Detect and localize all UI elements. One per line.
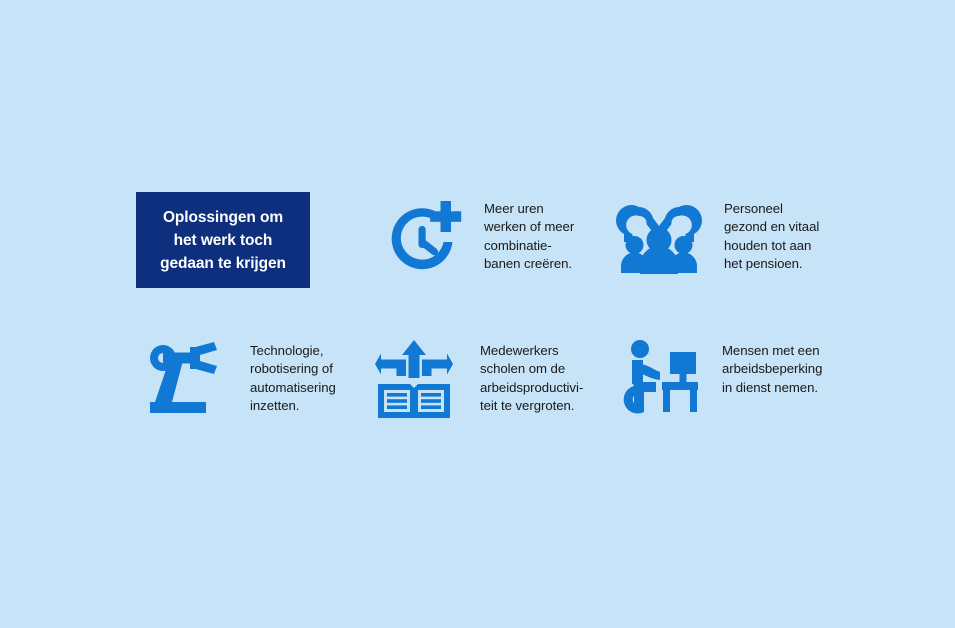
book-arrows-icon — [372, 338, 456, 422]
wheelchair-desk-icon — [618, 338, 702, 418]
item-health: Personeel gezond en vitaal houden tot aa… — [616, 196, 840, 280]
item-tech-label: Technologie, robotisering of automatiser… — [250, 342, 362, 415]
page-title: Oplossingen om het werk toch gedaan te k… — [160, 206, 286, 275]
item-health-label: Personeel gezond en vitaal houden tot aa… — [724, 200, 840, 273]
title-box: Oplossingen om het werk toch gedaan te k… — [136, 192, 310, 288]
infographic-canvas: Oplossingen om het werk toch gedaan te k… — [0, 0, 955, 628]
item-tech: Technologie, robotisering of automatiser… — [142, 338, 362, 418]
item-hours-label: Meer uren werken of meer combinatie- ban… — [484, 200, 596, 273]
clock-plus-icon — [378, 196, 462, 280]
item-school: Medewerkers scholen om de arbeidsproduct… — [372, 338, 588, 422]
item-school-label: Medewerkers scholen om de arbeidsproduct… — [480, 342, 588, 415]
robot-arm-icon — [142, 338, 228, 418]
item-inclusion-label: Mensen met een arbeidsbeperking in diens… — [722, 342, 842, 397]
item-inclusion: Mensen met een arbeidsbeperking in diens… — [618, 338, 842, 418]
people-heart-icon — [616, 196, 702, 280]
item-hours: Meer uren werken of meer combinatie- ban… — [378, 196, 596, 280]
